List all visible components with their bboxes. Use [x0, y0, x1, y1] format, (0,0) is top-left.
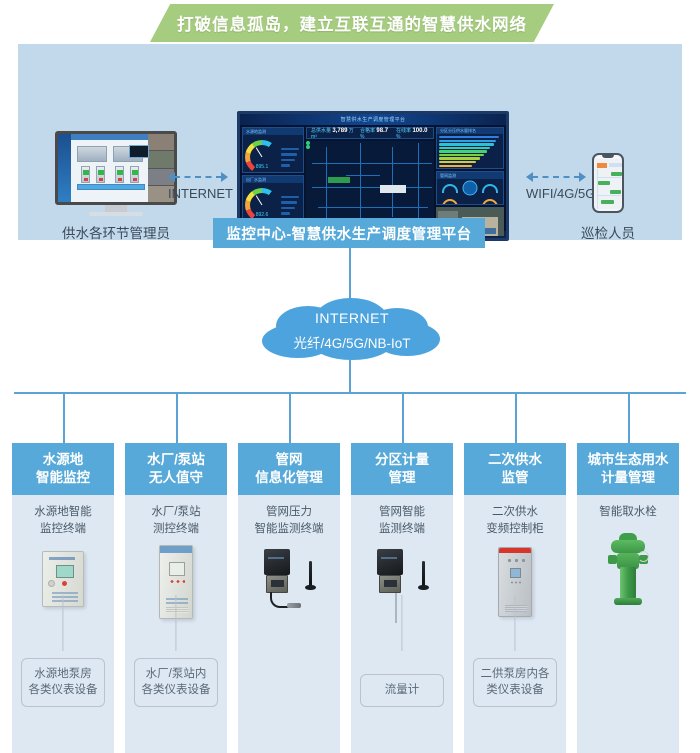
column-subtitle-line1: 水源地智能 [12, 504, 114, 521]
column-header-line1: 城市生态用水 [588, 451, 669, 469]
tank-shape [81, 166, 90, 183]
column-body: 二次供水 变频控制柜 二供泵房内各 类仪表设备 [464, 495, 566, 753]
column-header-urban-ecological-water[interactable]: 城市生态用水 计量管理 [577, 443, 679, 495]
column-subtitle-line1: 二次供水 [464, 504, 566, 521]
column-subtitle-line1: 管网智能 [351, 504, 453, 521]
pressure-gauge: 895.1 [245, 140, 279, 173]
title-banner-shape: 打破信息孤岛，建立互联互通的智慧供水网络 [150, 4, 554, 42]
tank-shape [115, 166, 124, 183]
column-header-secondary-supply[interactable]: 二次供水 监管 [464, 443, 566, 495]
operator-pc-icon [55, 131, 177, 215]
center-dial [463, 181, 478, 196]
pressure-gauge: 892.6 [245, 188, 279, 221]
column-header-line2: 监管 [502, 469, 529, 487]
dashed-line [532, 176, 580, 178]
connector-trunk-to-column-4 [402, 392, 404, 443]
pc-stand-neck [105, 205, 127, 212]
bottom-box-waterworks: 水厂/泵站内 各类仪表设备 [134, 658, 218, 707]
scada-panel-title: 出厂水监测 [243, 176, 303, 183]
column-header-line1: 二次供水 [488, 451, 542, 469]
pc-stand-base [89, 212, 143, 216]
column-subtitle: 水厂/泵站 测控终端 [125, 504, 227, 537]
bottom-box-line2: 各类仪表设备 [137, 682, 215, 699]
column-dma-metering[interactable]: 分区计量 管理 管网智能 监测终端 流量计 [351, 443, 453, 753]
column-subtitle: 智能取水栓 [577, 504, 679, 521]
internet-cloud: INTERNET 光纤/4G/5G/NB-IoT [262, 298, 442, 362]
wireless-link-right-label: WIFI/4G/5G [526, 186, 586, 201]
connector-device-to-box [514, 595, 515, 651]
column-header-line1: 分区计量 [375, 451, 429, 469]
scada-panel-title: 水源地监测 [243, 128, 303, 135]
center-platform-label: 监控中心-智慧供水生产调度管理平台 [213, 218, 485, 248]
smart-hydrant-icon [605, 533, 651, 607]
diagram-root: 打破信息孤岛，建立互联互通的智慧供水网络 [0, 0, 700, 753]
bottom-box-line2: 类仪表设备 [476, 682, 554, 699]
device-image-pressure-logger [238, 543, 340, 635]
column-waterworks-pumpstation[interactable]: 水厂/泵站 无人值守 水厂/泵站 测控终端 水厂/泵站内 各类仪表设备 [125, 443, 227, 753]
column-pipe-network[interactable]: 管网 信息化管理 管网压力 智能监测终端 [238, 443, 340, 753]
bottom-box-line1: 水源地泵房 [24, 666, 102, 683]
phone-notch [602, 155, 614, 158]
column-water-source[interactable]: 水源地 智能监控 水源地智能 监控终端 水源地泵房 各类仪表设备 [12, 443, 114, 753]
water-channel-shape [77, 184, 145, 190]
connector-trunk-to-column-2 [176, 392, 178, 443]
inspector-phone-label: 巡检人员 [518, 222, 698, 242]
column-header-line1: 管网 [276, 451, 303, 469]
device-image-smart-hydrant [577, 527, 679, 619]
column-subtitle: 水源地智能 监控终端 [12, 504, 114, 537]
column-subtitle-line1: 智能取水栓 [577, 504, 679, 521]
bottom-box-flow-meter: 流量计 [360, 674, 444, 707]
connector-trunk-to-column-6 [628, 392, 630, 443]
scada-kpi-bar: 总供水量 3,789 万m³ 合格率 98.7 % 在线率 100.0 % [306, 127, 434, 139]
column-subtitle-line2: 监控终端 [12, 521, 114, 538]
phone-screen-map [595, 159, 621, 209]
column-header-line2: 管理 [389, 469, 416, 487]
connector-device-to-box [401, 595, 402, 651]
scada-screen-title: 智慧供水生产调度管理平台 [240, 114, 506, 125]
column-header-line2: 计量管理 [601, 469, 655, 487]
cloud-label-internet: INTERNET [262, 310, 442, 326]
scada-panel-source-water: 水源地监测 895.1 [242, 127, 304, 173]
arrow-head-left-icon [168, 172, 175, 182]
column-subtitle: 管网压力 智能监测终端 [238, 504, 340, 537]
connector-center-to-cloud [349, 248, 351, 300]
wireless-link-right: WIFI/4G/5G [526, 172, 586, 182]
tank-shape [130, 166, 139, 183]
column-subtitle-line2: 变频控制柜 [464, 521, 566, 538]
column-secondary-supply[interactable]: 二次供水 监管 二次供水 变频控制柜 二供泵房内各 类仪表设备 [464, 443, 566, 753]
arrow-head-right-icon [579, 172, 586, 182]
column-header-waterworks[interactable]: 水厂/泵站 无人值守 [125, 443, 227, 495]
bottom-box-line1: 水厂/泵站内 [137, 666, 215, 683]
operator-pc-label: 供水各环节管理员 [18, 222, 214, 242]
pc-screen [55, 131, 177, 205]
bottom-box-secondary-supply: 二供泵房内各 类仪表设备 [473, 658, 557, 707]
column-header-line2: 信息化管理 [255, 469, 323, 487]
dashed-line [174, 176, 222, 178]
scada-panel-network-gauges: 管网监测 [436, 171, 504, 205]
title-banner: 打破信息孤岛，建立互联互通的智慧供水网络 [150, 4, 554, 42]
connector-device-to-box [62, 595, 63, 651]
column-subtitle-line1: 水厂/泵站 [125, 504, 227, 521]
inspector-phone-icon [592, 153, 624, 213]
pc-screen-titlebar [71, 134, 148, 140]
scada-gauge-block: 895.1 [243, 135, 303, 173]
internet-link-left-label: INTERNET [168, 186, 228, 201]
scada-kv-list [279, 145, 303, 170]
column-header-dma-metering[interactable]: 分区计量 管理 [351, 443, 453, 495]
connector-device-to-box [175, 595, 176, 651]
column-urban-ecological-water[interactable]: 城市生态用水 计量管理 智能取水栓 [577, 443, 679, 753]
column-subtitle: 二次供水 变频控制柜 [464, 504, 566, 537]
basin-shape [77, 146, 107, 162]
scada-panel-title: 管网监测 [437, 172, 503, 179]
scada-panel-zone-ranking: 分区分压供水量排名 [436, 127, 504, 169]
column-subtitle-line2: 监测终端 [351, 521, 453, 538]
column-body: 水源地智能 监控终端 水源地泵房 各类仪表设备 [12, 495, 114, 753]
bottom-box-water-source: 水源地泵房 各类仪表设备 [21, 658, 105, 707]
rtu-pressure-logger-icon [260, 549, 318, 615]
column-header-water-source[interactable]: 水源地 智能监控 [12, 443, 114, 495]
pc-screen-sidebar [58, 134, 71, 202]
cloud-label-bearers: 光纤/4G/5G/NB-IoT [262, 332, 442, 352]
pc-screen-inset-video [129, 145, 149, 158]
column-body: 管网压力 智能监测终端 [238, 495, 340, 753]
kpi-item: 在线率 100.0 % [396, 127, 429, 140]
bottom-box-line1: 二供泵房内各 [476, 666, 554, 683]
column-subtitle-line2: 智能监测终端 [238, 521, 340, 538]
column-subtitle-line1: 管网压力 [238, 504, 340, 521]
connector-cloud-to-trunk [349, 360, 351, 392]
arrow-head-right-icon [221, 172, 228, 182]
bottom-box-line2: 各类仪表设备 [24, 682, 102, 699]
connector-trunk-to-column-5 [515, 392, 517, 443]
column-header-line1: 水源地 [43, 451, 84, 469]
tank-shape [96, 166, 105, 183]
connector-trunk-to-column-1 [63, 392, 65, 443]
trunk-line [14, 392, 686, 394]
camera-tile [148, 151, 174, 167]
kpi-item: 总供水量 3,789 万m³ [311, 127, 354, 140]
ranking-bar-chart [437, 134, 503, 169]
bottom-box-line1: 流量计 [363, 682, 441, 699]
connector-trunk-to-column-3 [289, 392, 291, 443]
scada-gauge-block: 892.6 [243, 183, 303, 221]
column-header-pipe-network[interactable]: 管网 信息化管理 [238, 443, 340, 495]
column-body: 管网智能 监测终端 流量计 [351, 495, 453, 753]
center-platform-label-text: 监控中心-智慧供水生产调度管理平台 [226, 223, 471, 244]
column-body: 水厂/泵站 测控终端 水厂/泵站内 各类仪表设备 [125, 495, 227, 753]
column-subtitle-line2: 测控终端 [125, 521, 227, 538]
monitoring-center-panel: 供水各环节管理员 INTERNET 智慧供水生产调度管理平台 水源地监测 895… [18, 44, 682, 240]
internet-link-left: INTERNET [168, 172, 228, 182]
column-header-line1: 水厂/泵站 [147, 451, 205, 469]
column-body: 智能取水栓 [577, 495, 679, 753]
column-header-line2: 智能监控 [36, 469, 90, 487]
kpi-item: 合格率 98.7 % [360, 127, 390, 140]
camera-tile [148, 134, 174, 150]
title-banner-text: 打破信息孤岛，建立互联互通的智慧供水网络 [177, 11, 527, 35]
column-header-line2: 无人值守 [149, 469, 203, 487]
column-subtitle: 管网智能 监测终端 [351, 504, 453, 537]
arrow-head-left-icon [526, 172, 533, 182]
scada-panel-outlet-water: 出厂水监测 892.6 [242, 175, 304, 221]
scada-kv-list [279, 193, 303, 218]
